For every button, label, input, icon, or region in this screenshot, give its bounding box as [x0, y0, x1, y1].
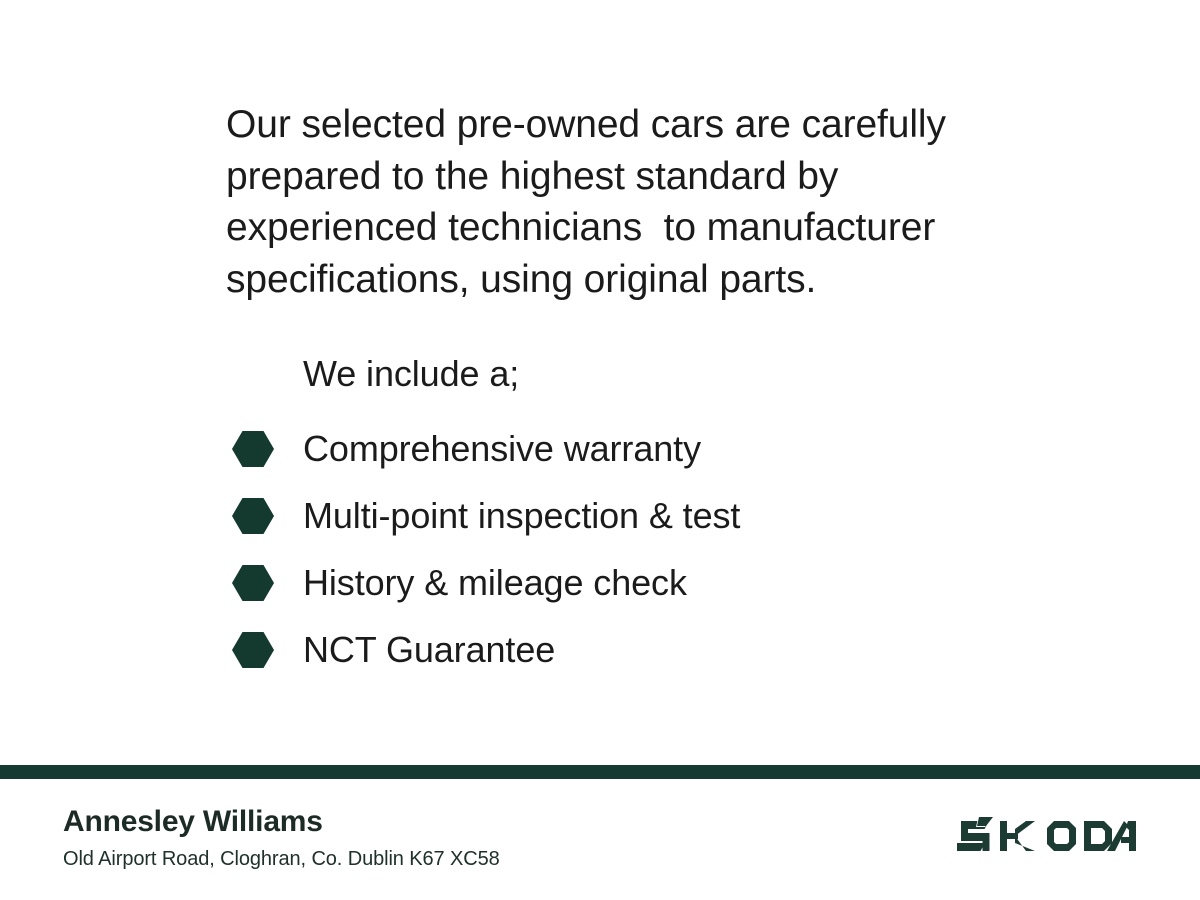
list-item-label: Comprehensive warranty	[303, 429, 701, 469]
main-content: Our selected pre-owned cars are carefull…	[0, 0, 1200, 765]
dealer-address: Old Airport Road, Cloghran, Co. Dublin K…	[63, 846, 500, 872]
list-item-label: NCT Guarantee	[303, 630, 555, 670]
headline-text: Our selected pre-owned cars are carefull…	[226, 99, 1016, 305]
hexagon-bullet-icon	[232, 565, 274, 601]
footer-divider-bar	[0, 765, 1200, 779]
dealer-info-block: Annesley Williams Old Airport Road, Clog…	[63, 804, 500, 872]
benefits-list: Comprehensive warranty Multi-point inspe…	[232, 415, 740, 683]
hexagon-bullet-icon	[232, 431, 274, 467]
include-lead-text: We include a;	[303, 351, 519, 397]
hexagon-bullet-icon	[232, 498, 274, 534]
dealer-name: Annesley Williams	[63, 804, 500, 840]
list-item: NCT Guarantee	[232, 616, 740, 683]
promotional-slide: Our selected pre-owned cars are carefull…	[0, 0, 1200, 900]
list-item: Multi-point inspection & test	[232, 482, 740, 549]
hexagon-bullet-icon	[232, 632, 274, 668]
list-item-label: Multi-point inspection & test	[303, 496, 740, 536]
list-item: Comprehensive warranty	[232, 415, 740, 482]
skoda-wordmark-logo	[956, 815, 1136, 857]
footer: Annesley Williams Old Airport Road, Clog…	[0, 779, 1200, 900]
list-item-label: History & mileage check	[303, 563, 687, 603]
list-item: History & mileage check	[232, 549, 740, 616]
